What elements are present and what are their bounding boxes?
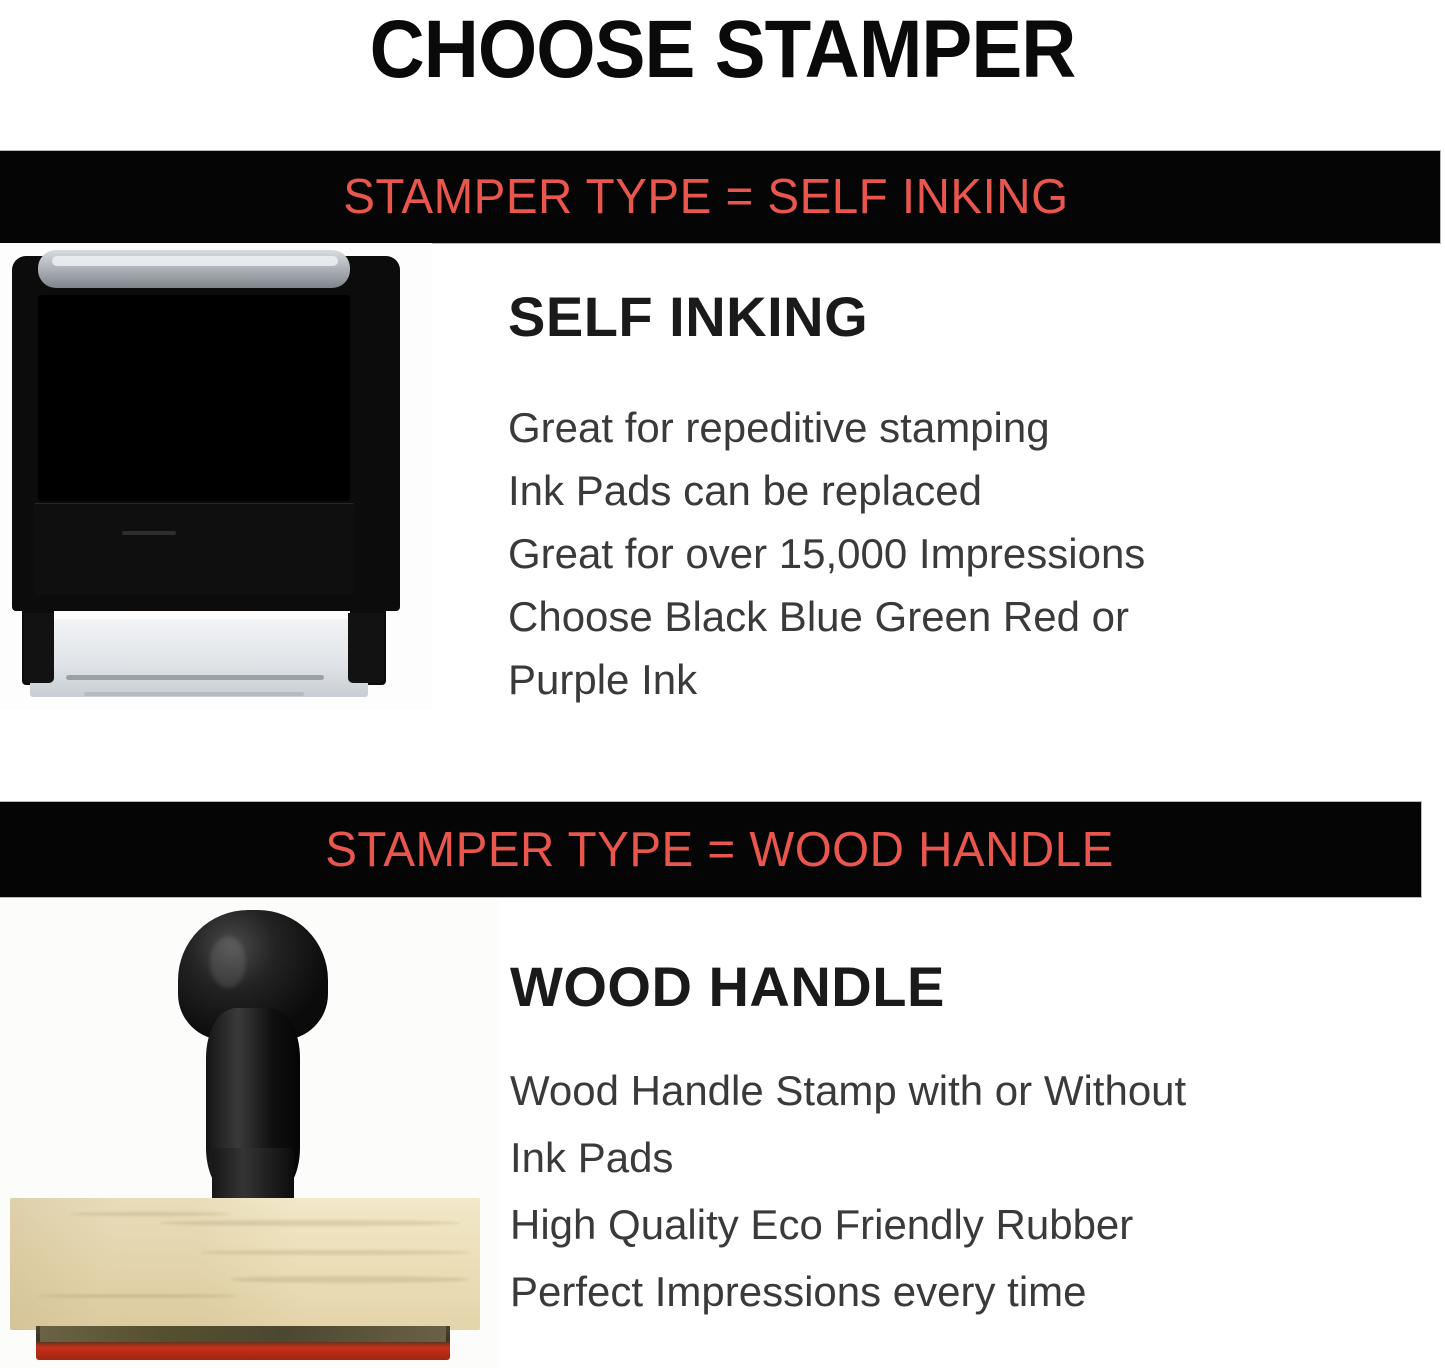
- wood-grain-line: [160, 1220, 460, 1226]
- self-inking-stamper-photo: [0, 243, 432, 710]
- stamper-lower-face: [34, 503, 354, 595]
- section-heading-wood-handle: WOOD HANDLE: [510, 957, 945, 1017]
- description-line: Great for over 15,000 Impressions: [508, 522, 1145, 585]
- section-description-wood-handle: Wood Handle Stamp with or Without Ink Pa…: [510, 1057, 1186, 1325]
- wood-grain-line: [200, 1250, 470, 1255]
- description-line: Great for repeditive stamping: [508, 396, 1145, 459]
- description-line: Choose Black Blue Green Red or: [508, 585, 1145, 648]
- banner-self-inking: STAMPER TYPE = SELF INKING: [0, 151, 1440, 243]
- section-description-self-inking: Great for repeditive stamping Ink Pads c…: [508, 396, 1145, 711]
- page-title: CHOOSE STAMPER: [51, 2, 1395, 98]
- stamper-base-cap-left: [24, 613, 54, 683]
- description-line: Perfect Impressions every time: [510, 1258, 1186, 1325]
- stamper-label-window: [38, 295, 350, 501]
- stamper-press-bar-highlight: [52, 256, 338, 266]
- banner-self-inking-label: STAMPER TYPE = SELF INKING: [343, 172, 1068, 222]
- stamper-base-edge: [66, 675, 324, 680]
- stamper-clear-base: [30, 619, 368, 697]
- section-heading-self-inking: SELF INKING: [508, 287, 868, 347]
- stamp-handle-collar: [212, 1148, 294, 1204]
- stamper-base-detail: [84, 692, 304, 696]
- banner-wood-handle: STAMPER TYPE = WOOD HANDLE: [0, 802, 1421, 897]
- description-line: Ink Pads can be replaced: [508, 459, 1145, 522]
- description-line: High Quality Eco Friendly Rubber: [510, 1191, 1186, 1258]
- wood-grain-line: [230, 1276, 470, 1283]
- stamp-knob-highlight: [210, 936, 246, 988]
- stamp-foam-cushion: [40, 1326, 446, 1342]
- wood-grain-line: [38, 1294, 238, 1298]
- stamper-brand-marking: [122, 531, 176, 535]
- stamp-wood-block: [10, 1198, 480, 1330]
- stamper-base-cap-right: [348, 613, 384, 683]
- banner-wood-handle-label: STAMPER TYPE = WOOD HANDLE: [325, 825, 1114, 875]
- description-line: Ink Pads: [510, 1124, 1186, 1191]
- wood-handle-stamp-photo: [0, 898, 500, 1368]
- description-line: Purple Ink: [508, 648, 1145, 711]
- wood-grain-line: [70, 1212, 230, 1216]
- choose-stamper-infographic: CHOOSE STAMPER STAMPER TYPE = SELF INKIN…: [0, 0, 1445, 1368]
- description-line: Wood Handle Stamp with or Without: [510, 1057, 1186, 1124]
